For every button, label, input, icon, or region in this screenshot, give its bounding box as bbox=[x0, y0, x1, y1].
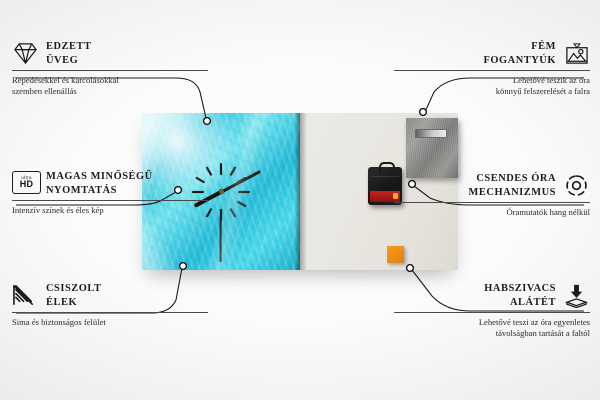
feature-divider bbox=[394, 312, 590, 313]
beveled-edge-icon bbox=[12, 283, 39, 308]
ultra-hd-icon: ultra HD bbox=[12, 171, 39, 196]
feature-silent-mechanism[interactable]: CSENDES ÓRA MECHANIZMUS Óramutatók hang … bbox=[394, 172, 590, 218]
foam-pad-icon bbox=[563, 283, 590, 308]
clock-tick bbox=[220, 163, 222, 221]
feature-divider bbox=[394, 70, 590, 71]
feature-tempered-glass[interactable]: EDZETT ÜVEG Repedésekkel és karcolásokka… bbox=[12, 40, 208, 97]
feature-header: ultra HD MAGAS MINŐSÉGŰ NYOMTATÁS bbox=[12, 170, 208, 197]
feature-title: EDZETT ÜVEG bbox=[46, 40, 91, 67]
feature-title: FÉM FOGANTYÚK bbox=[484, 40, 557, 67]
clock-center-cap bbox=[219, 189, 224, 194]
feature-polished-edges[interactable]: CSISZOLT ÉLEK Sima és biztonságos felüle… bbox=[12, 282, 208, 328]
infographic-stage: EDZETT ÜVEG Repedésekkel és karcolásokka… bbox=[0, 0, 600, 400]
feature-description: Sima és biztonságos felület bbox=[12, 317, 208, 328]
clock-second-hand bbox=[220, 216, 222, 262]
feature-title: HABSZIVACS ALÁTÉT bbox=[484, 282, 556, 309]
feature-high-quality-print[interactable]: ultra HD MAGAS MINŐSÉGŰ NYOMTATÁS Intenz… bbox=[12, 170, 208, 216]
feature-divider bbox=[394, 202, 590, 203]
feature-divider bbox=[12, 70, 208, 71]
feature-foam-pad[interactable]: HABSZIVACS ALÁTÉT Lehetővé teszi az óra … bbox=[394, 282, 590, 339]
foam-pad-part bbox=[387, 246, 404, 263]
clock-tick bbox=[206, 166, 237, 217]
clock-tick bbox=[206, 166, 237, 217]
metal-hanger-part bbox=[406, 118, 458, 178]
feature-title: MAGAS MINŐSÉGŰ NYOMTATÁS bbox=[46, 170, 153, 197]
feature-title: CSISZOLT ÉLEK bbox=[46, 282, 101, 309]
picture-hanger-icon bbox=[563, 41, 590, 66]
clock-minute-hand bbox=[220, 170, 260, 193]
panel-shadow bbox=[300, 113, 307, 270]
feature-description: Óramutatók hang nélkül bbox=[394, 207, 590, 218]
clock-tick bbox=[206, 166, 237, 217]
feature-description: Intenzív színek és éles kép bbox=[12, 205, 208, 216]
feature-title: CSENDES ÓRA MECHANIZMUS bbox=[469, 172, 556, 199]
mechanism-loop bbox=[379, 162, 395, 173]
diamond-icon bbox=[12, 41, 39, 66]
clock-tick bbox=[206, 166, 237, 217]
feature-header: FÉM FOGANTYÚK bbox=[394, 40, 590, 67]
feature-header: CSENDES ÓRA MECHANIZMUS bbox=[394, 172, 590, 199]
feature-description: Lehetővé teszik az óra könnyű felszerelé… bbox=[394, 75, 590, 97]
gear-icon bbox=[563, 173, 590, 198]
feature-header: CSISZOLT ÉLEK bbox=[12, 282, 208, 309]
feature-metal-handles[interactable]: FÉM FOGANTYÚK Lehetővé teszik az óra kön… bbox=[394, 40, 590, 97]
feature-description: Repedésekkel és karcolásokkal szemben el… bbox=[12, 75, 208, 97]
feature-divider bbox=[12, 200, 208, 201]
feature-divider bbox=[12, 312, 208, 313]
feature-header: EDZETT ÜVEG bbox=[12, 40, 208, 67]
feature-description: Lehetővé teszi az óra egyenletes távolsá… bbox=[394, 317, 590, 339]
clock-tick bbox=[220, 163, 222, 221]
feature-header: HABSZIVACS ALÁTÉT bbox=[394, 282, 590, 309]
